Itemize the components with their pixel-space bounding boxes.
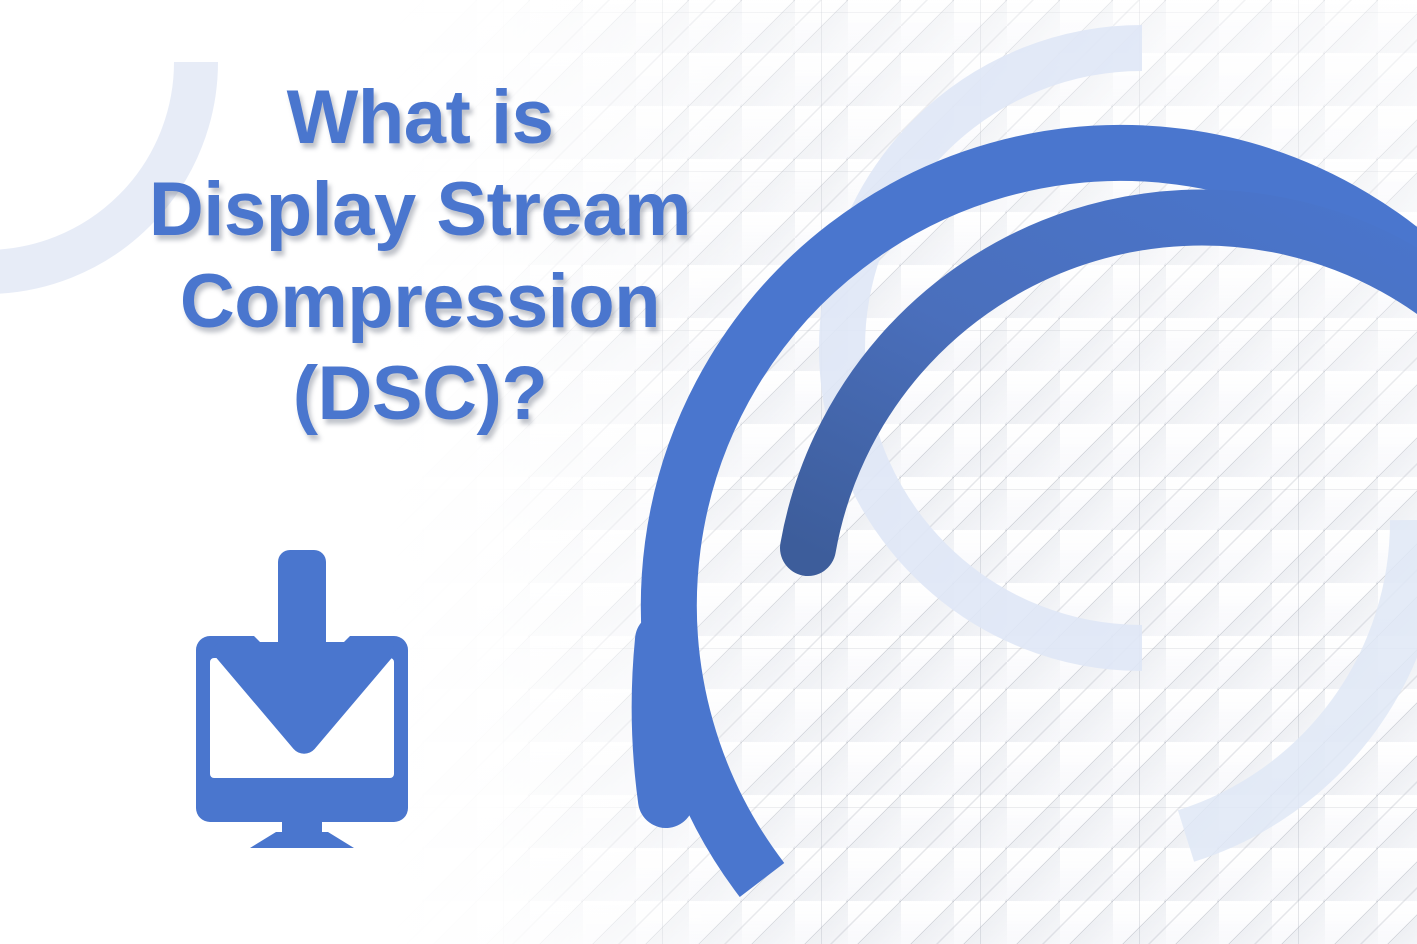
headline-line-1: What is <box>0 72 840 164</box>
headline-line-3: Compression <box>0 256 840 348</box>
monitor-download-icon <box>178 538 426 848</box>
headline-line-4: (DSC)? <box>0 348 840 440</box>
monitor-download-icon-wrapper <box>178 538 426 848</box>
headline: What is Display Stream Compression (DSC)… <box>0 72 840 440</box>
headline-line-2: Display Stream <box>0 164 840 256</box>
slide-canvas: What is Display Stream Compression (DSC)… <box>0 0 1417 944</box>
